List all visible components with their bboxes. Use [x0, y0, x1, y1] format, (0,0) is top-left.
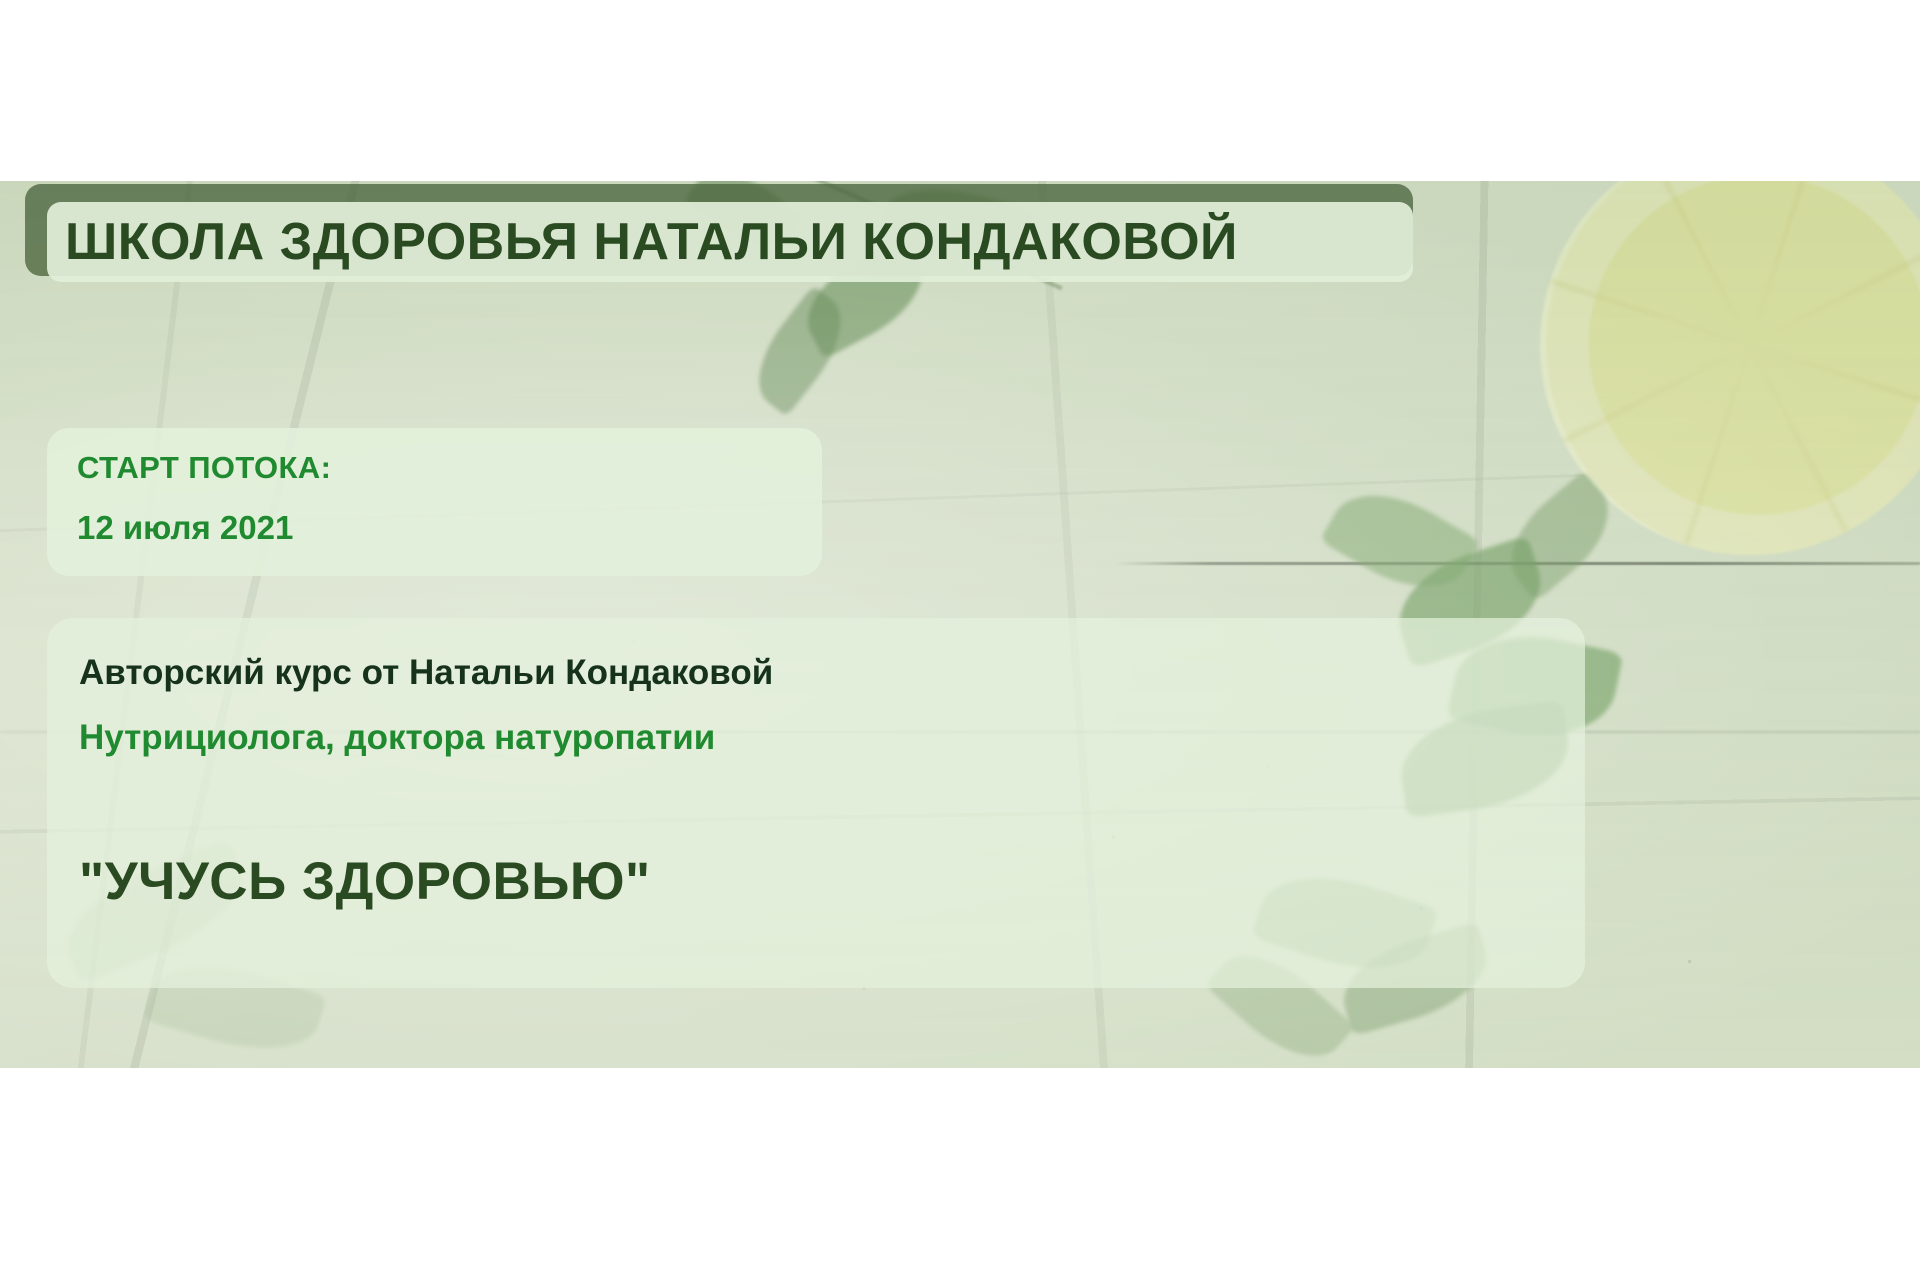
author-role-line: Нутрициолога, доктора натуропатии	[79, 719, 1585, 758]
start-date-value: 12 июля 2021	[77, 511, 822, 546]
author-line: Авторский курс от Натальи Кондаковой	[79, 654, 1585, 693]
school-title-card: ШКОЛА ЗДОРОВЬЯ НАТАЛЬИ КОНДАКОВОЙ	[25, 184, 1415, 284]
page-root: ШКОЛА ЗДОРОВЬЯ НАТАЛЬИ КОНДАКОВОЙ СТАРТ …	[0, 0, 1920, 1280]
course-info-card: Авторский курс от Натальи Кондаковой Нут…	[47, 618, 1585, 988]
start-date-card: СТАРТ ПОТОКА: 12 июля 2021	[47, 428, 822, 576]
start-label: СТАРТ ПОТОКА:	[77, 452, 822, 485]
promo-banner: ШКОЛА ЗДОРОВЬЯ НАТАЛЬИ КОНДАКОВОЙ СТАРТ …	[0, 181, 1920, 1068]
school-title: ШКОЛА ЗДОРОВЬЯ НАТАЛЬИ КОНДАКОВОЙ	[65, 216, 1238, 268]
school-title-card-surface: ШКОЛА ЗДОРОВЬЯ НАТАЛЬИ КОНДАКОВОЙ	[47, 202, 1413, 282]
course-title: "УЧУСЬ ЗДОРОВЬЮ"	[79, 855, 651, 908]
banner-content: ШКОЛА ЗДОРОВЬЯ НАТАЛЬИ КОНДАКОВОЙ СТАРТ …	[0, 181, 1920, 1068]
